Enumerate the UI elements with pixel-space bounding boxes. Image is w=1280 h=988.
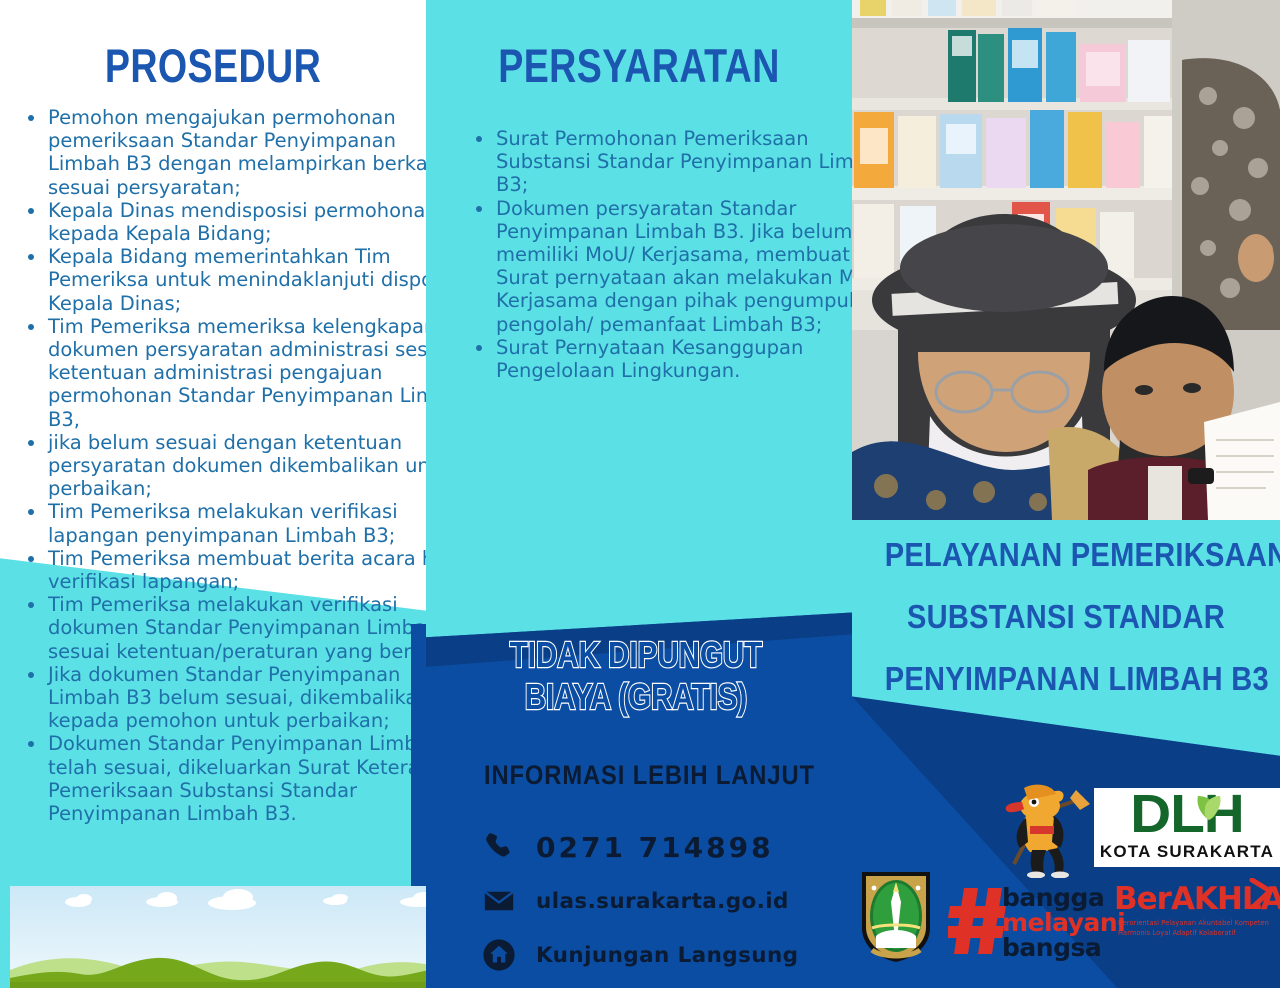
phone-number: 0271 714898	[536, 831, 774, 864]
dlh-wordmark-area: DLH	[1096, 790, 1278, 842]
arrow-icon	[1248, 878, 1274, 908]
contact-row-phone[interactable]: 0271 714898	[482, 822, 842, 872]
list-item: Surat Pernyataan Kesanggupan Pengelolaan…	[496, 336, 852, 382]
list-item: Surat Permohonan Pemeriksaan Substansi S…	[496, 127, 852, 197]
list-item: Dokumen persyaratan Standar Penyimpanan …	[496, 197, 852, 336]
brochure-page: PROSEDUR Pemohon mengajukan permohonan p…	[0, 0, 1280, 988]
prosedur-list: Pemohon mengajukan permohonan pemeriksaa…	[0, 106, 426, 825]
page-title-persyaratan: PERSYARATAN	[469, 40, 810, 92]
cover-photo	[852, 0, 1280, 520]
list-item: Kepala Bidang memerintahkan Tim Pemeriks…	[48, 245, 426, 315]
panel-persyaratan: PERSYARATAN Surat Permohonan Pemeriksaan…	[426, 0, 852, 988]
berakhlak-logo: BerAKHLAK Berorientasi Pelayanan Akuntab…	[1114, 882, 1274, 954]
berakhlak-values-line-1: Berorientasi Pelayanan Akuntabel Kompete…	[1118, 918, 1274, 928]
logo-strip: DLH KOTA SURAKARTA	[852, 760, 1280, 988]
page-title-prosedur: PROSEDUR	[43, 40, 384, 92]
list-item: Tim Pemeriksa memeriksa kelengkapan doku…	[48, 315, 426, 431]
bangga-melayani-bangsa-logo: bangga melayani bangsa	[948, 878, 1128, 964]
free-banner-line-2: BIAYA (GRATIS)	[459, 676, 813, 718]
berakhlak-values-line-2: Harmonis Loyal Adaptif Kolaboratif	[1118, 928, 1274, 938]
landscape-svg	[10, 886, 426, 988]
contact-row-visit[interactable]: Kunjungan Langsung	[482, 930, 842, 980]
visit-label: Kunjungan Langsung	[536, 943, 798, 968]
cover-title: PELAYANAN PEMERIKSAAN SUBSTANSI STANDAR …	[860, 524, 1272, 710]
cover-photo-svg	[852, 0, 1280, 520]
more-info-heading: INFORMASI LEBIH LANJUT	[484, 760, 815, 791]
list-item: Tim Pemeriksa melakukan verifikasi lapan…	[48, 500, 426, 546]
bangga-line-1: bangga	[1002, 884, 1104, 911]
gareng-mascot-icon	[1000, 782, 1092, 878]
bangga-line-2: melayani	[1002, 909, 1125, 936]
mail-icon	[482, 884, 536, 918]
hashtag-icon	[948, 886, 1008, 956]
cover-title-line-1: PELAYANAN PEMERIKSAAN	[885, 524, 1248, 586]
list-item: Tim Pemeriksa membuat berita acara hasil…	[48, 547, 426, 593]
dlh-subtitle: KOTA SURAKARTA	[1096, 842, 1278, 865]
list-item: Jika dokumen Standar Penyimpanan Limbah …	[48, 663, 426, 733]
cover-title-line-3: PENYIMPANAN LIMBAH B3	[885, 648, 1248, 710]
bangga-line-3: bangsa	[1002, 934, 1101, 961]
phone-icon	[482, 830, 536, 864]
website-url: ulas.surakarta.go.id	[536, 889, 789, 914]
dlh-logo: DLH KOTA SURAKARTA	[1094, 788, 1280, 867]
list-item: jika belum sesuai dengan ketentuan persy…	[48, 431, 426, 501]
panel-prosedur: PROSEDUR Pemohon mengajukan permohonan p…	[0, 0, 426, 988]
leaf-icon	[1192, 792, 1226, 822]
free-of-charge-banner: TIDAK DIPUNGUT BIAYA (GRATIS)	[426, 634, 852, 718]
persyaratan-list: Surat Permohonan Pemeriksaan Substansi S…	[448, 127, 852, 382]
landscape-illustration	[10, 886, 426, 988]
contact-row-website[interactable]: ulas.surakarta.go.id	[482, 876, 842, 926]
contact-list: 0271 714898 ulas.surakarta.go.id	[482, 822, 842, 984]
dlh-wordmark: DLH	[1091, 786, 1280, 842]
berakhlak-values: Berorientasi Pelayanan Akuntabel Kompete…	[1118, 918, 1274, 938]
list-item: Kepala Dinas mendisposisi permohonan kep…	[48, 199, 426, 245]
home-icon	[482, 938, 536, 972]
list-item: Dokumen Standar Penyimpanan Limbah B3 te…	[48, 732, 426, 825]
list-item: Pemohon mengajukan permohonan pemeriksaa…	[48, 106, 426, 199]
surakarta-crest-icon	[858, 868, 934, 964]
cover-title-line-2: SUBSTANSI STANDAR	[885, 586, 1248, 648]
panel-cover: PELAYANAN PEMERIKSAAN SUBSTANSI STANDAR …	[852, 0, 1280, 988]
list-item: Tim Pemeriksa melakukan verifikasi dokum…	[48, 593, 426, 663]
free-banner-line-1: TIDAK DIPUNGUT	[459, 634, 813, 676]
